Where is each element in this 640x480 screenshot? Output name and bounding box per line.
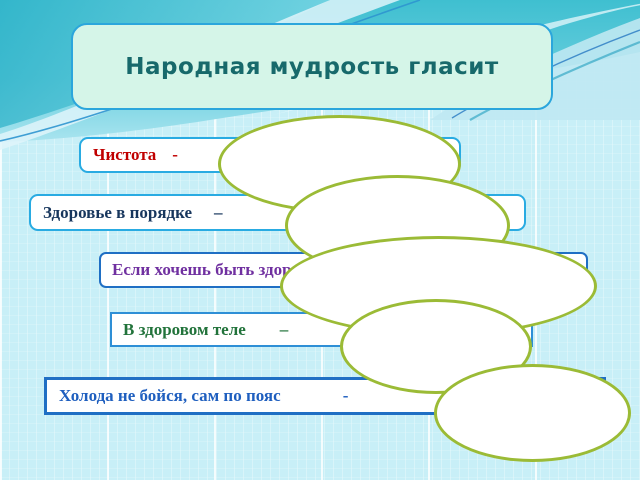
slide-canvas: Народная мудрость гласит Чистота - Здоро… <box>0 0 640 480</box>
proverb-dash-5: - <box>343 386 349 406</box>
proverb-lead-3: Если хочешь быть здоров <box>112 260 309 280</box>
proverb-dash-1: - <box>172 145 178 165</box>
proverb-lead-2: Здоровье в порядке <box>43 203 192 223</box>
proverb-lead-5: Холода не бойся, сам по пояс <box>59 386 281 406</box>
proverb-dash-4: – <box>280 320 289 340</box>
proverb-lead-4: В здоровом теле <box>123 320 246 340</box>
slide-title-text: Народная мудрость гласит <box>125 54 498 80</box>
answer-cover-ellipse-5 <box>434 364 631 462</box>
proverb-dash-2: – <box>214 203 223 223</box>
slide-title-box: Народная мудрость гласит <box>71 23 553 110</box>
proverb-lead-1: Чистота <box>93 145 156 165</box>
